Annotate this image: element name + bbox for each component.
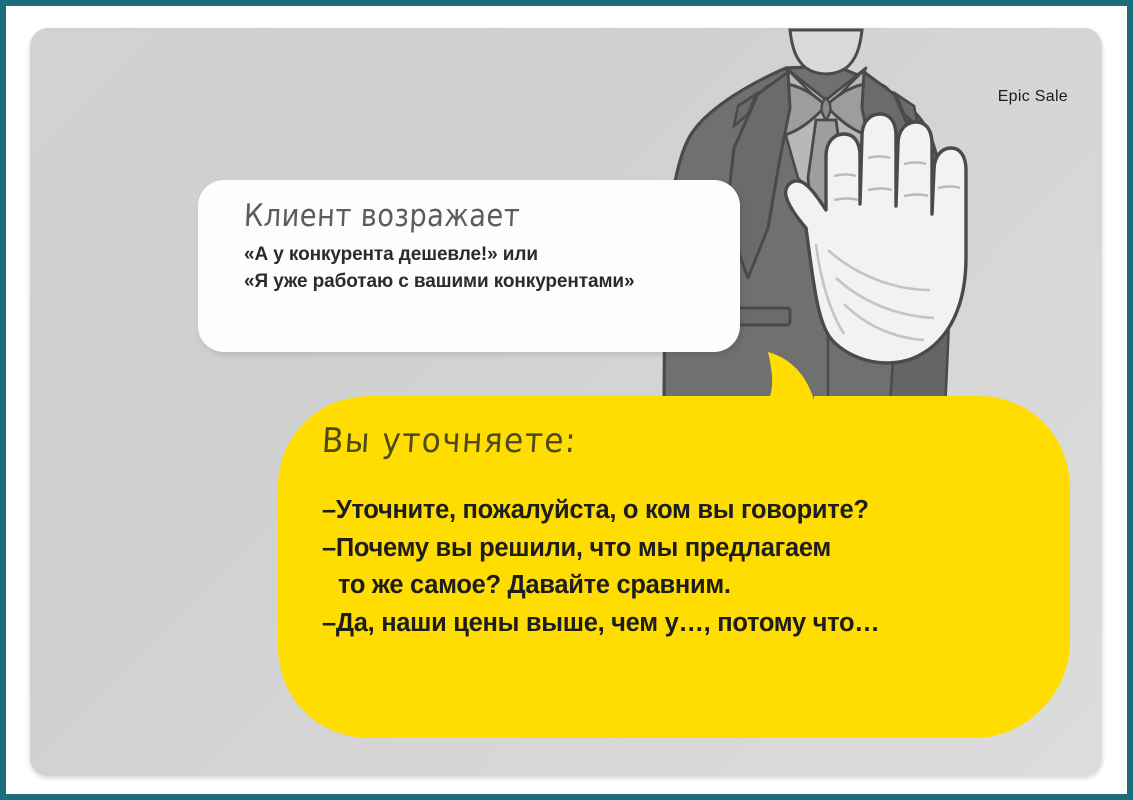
image-frame: Вы уточняете: –Уточните, пожалуйста, о к… (0, 0, 1133, 800)
objection-line: «А у конкурента дешевле!» или (244, 242, 714, 269)
objection-title: Клиент возражает (243, 200, 658, 233)
response-line: то же самое? Давайте сравним. (322, 567, 1042, 605)
objection-speech-bubble: Клиент возражает «А у конкурента дешевле… (198, 180, 740, 352)
response-line: –Да, наши цены выше, чем у…, потому что… (322, 605, 1042, 643)
response-line: –Почему вы решили, что мы предлагаем (322, 530, 1042, 568)
response-lines: –Уточните, пожалуйста, о ком вы говорите… (322, 492, 1042, 643)
response-title: Вы уточняете: (321, 424, 986, 458)
objection-line: «Я уже работаю с вашими конкурентами» (244, 269, 714, 296)
response-content: Вы уточняете: –Уточните, пожалуйста, о к… (322, 424, 1042, 643)
poster-card: Вы уточняете: –Уточните, пожалуйста, о к… (30, 28, 1102, 776)
objection-lines: «А у конкурента дешевле!» или «Я уже раб… (244, 242, 714, 296)
response-line: –Уточните, пожалуйста, о ком вы говорите… (322, 492, 1042, 530)
response-speech-bubble: Вы уточняете: –Уточните, пожалуйста, о к… (274, 346, 1074, 738)
brand-label: Epic Sale (998, 88, 1068, 106)
